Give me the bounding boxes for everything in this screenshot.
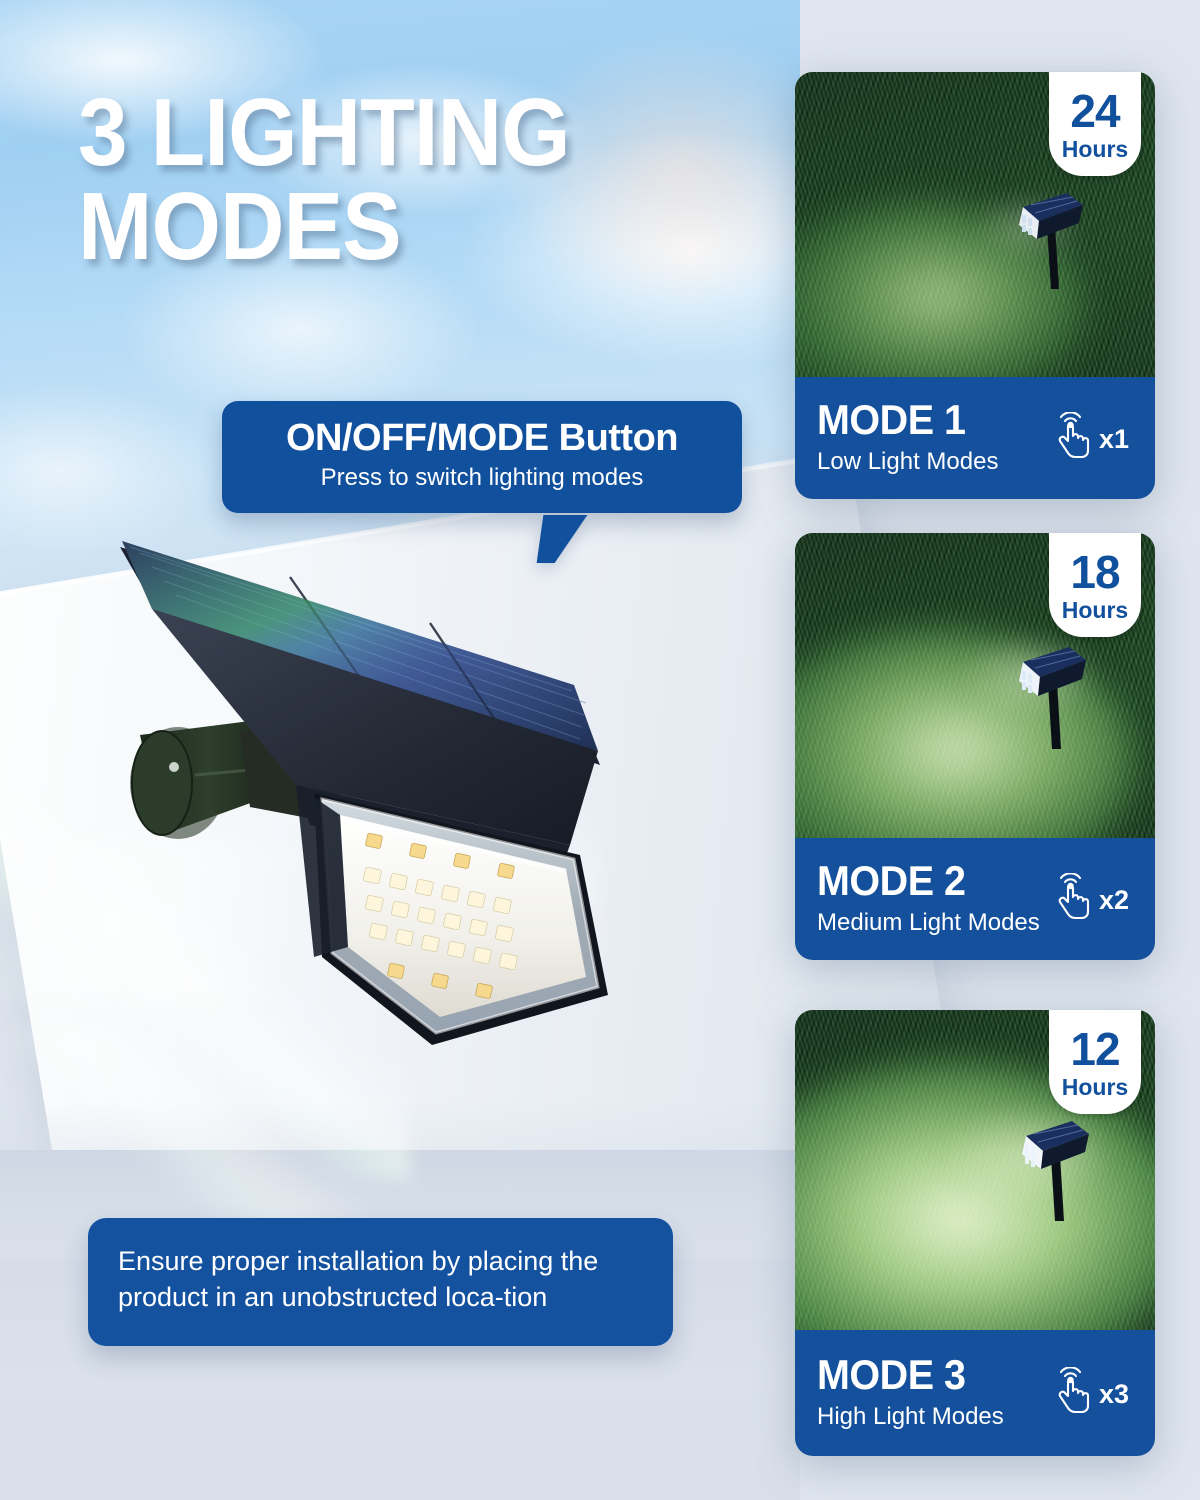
callout-title: ON/OFF/MODE Button [242, 418, 722, 458]
mode-subtitle: Low Light Modes [817, 450, 998, 474]
mode-title: MODE 2 [817, 860, 1026, 902]
callout-subtitle: Press to switch lighting modes [242, 464, 722, 493]
tap-hand-icon [1051, 412, 1095, 460]
hours-badge-3: 12 Hours [1049, 1010, 1141, 1114]
tap-indicator: x1 [1051, 412, 1133, 460]
tap-indicator: x2 [1051, 873, 1133, 921]
button-callout: ON/OFF/MODE Button Press to switch light… [222, 401, 742, 513]
badge-unit: Hours [1062, 138, 1128, 161]
product-solar-wall-light [100, 525, 720, 1065]
tap-count: x3 [1099, 1379, 1129, 1415]
badge-number: 24 [1070, 88, 1119, 134]
mode-title: MODE 1 [817, 399, 988, 441]
mode-3-footer: MODE 3 High Light Modes x3 [795, 1330, 1155, 1456]
mode-1-footer: MODE 1 Low Light Modes x1 [795, 377, 1155, 499]
hours-badge-1: 24 Hours [1049, 72, 1141, 176]
headline-line-1: 3 LIGHTING [78, 79, 570, 186]
badge-unit: Hours [1062, 599, 1128, 622]
tap-count: x1 [1099, 424, 1129, 460]
hours-badge-2: 18 Hours [1049, 533, 1141, 637]
staked-spotlight-icon [1003, 631, 1095, 753]
mode-card-2: 18 Hours MODE 2 Medium Light Modes x2 [795, 533, 1155, 960]
page-title: 3 LIGHTING MODES [78, 86, 673, 274]
badge-number: 12 [1070, 1026, 1119, 1072]
headline-line-2: MODES [78, 180, 673, 274]
badge-unit: Hours [1062, 1076, 1128, 1099]
tap-indicator: x3 [1051, 1367, 1133, 1415]
tap-count: x2 [1099, 885, 1129, 921]
badge-number: 18 [1070, 549, 1119, 595]
mode-subtitle: Medium Light Modes [817, 911, 1040, 935]
installation-note: Ensure proper installation by placing th… [88, 1218, 673, 1346]
mode-card-3: 12 Hours MODE 3 High Light Modes x3 [795, 1010, 1155, 1456]
staked-spotlight-icon [1007, 1105, 1097, 1225]
mode-card-1: 24 Hours MODE 1 Low Light Modes x1 [795, 72, 1155, 499]
mode-subtitle: High Light Modes [817, 1405, 1004, 1429]
tap-hand-icon [1051, 873, 1095, 921]
tap-hand-icon [1051, 1367, 1095, 1415]
mode-title: MODE 3 [817, 1354, 993, 1396]
callout-pointer [537, 515, 588, 563]
mode-2-footer: MODE 2 Medium Light Modes x2 [795, 838, 1155, 960]
staked-spotlight-icon [1005, 177, 1091, 292]
